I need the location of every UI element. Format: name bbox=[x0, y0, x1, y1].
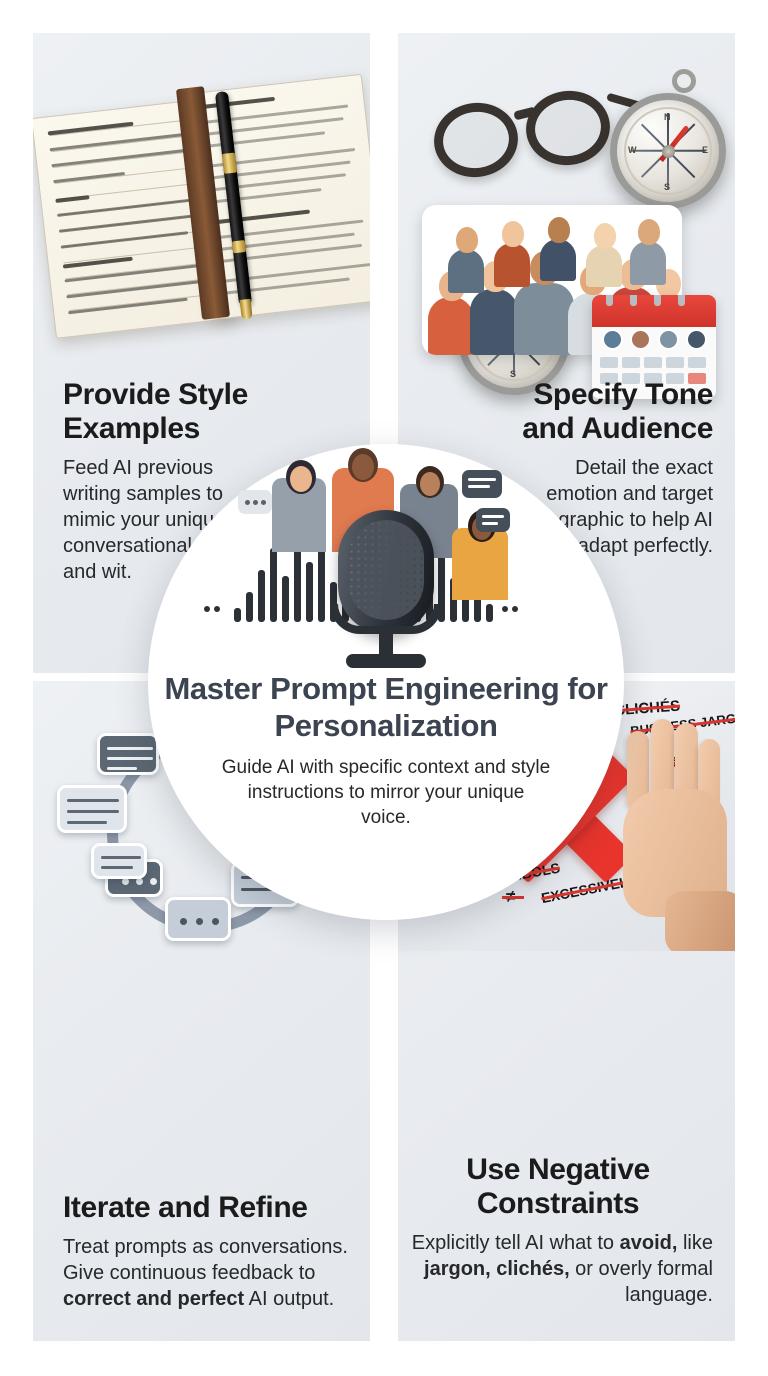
panel-heading: Specify Tone and Audience bbox=[508, 378, 713, 446]
panel-heading: Use Negative Constraints bbox=[403, 1153, 713, 1221]
panel-text-bottom-left: Iterate and Refine Treat prompts as conv… bbox=[63, 1191, 370, 1312]
glasses-right-lens bbox=[521, 86, 614, 171]
center-subtitle: Guide AI with specific context and style… bbox=[221, 755, 551, 830]
speech-bubble bbox=[462, 470, 502, 498]
glasses-left-lens bbox=[429, 98, 522, 183]
panel-heading: Provide Style Examples bbox=[63, 378, 273, 446]
center-hub: Master Prompt Engineering for Personaliz… bbox=[148, 444, 624, 920]
chat-bubble bbox=[57, 785, 127, 833]
panel-body: Treat prompts as conversations. Give con… bbox=[63, 1234, 370, 1312]
panel-body: Explicitly tell AI what to avoid, like j… bbox=[403, 1230, 713, 1308]
notebook-illustration bbox=[33, 63, 370, 363]
stop-hand-illustration bbox=[613, 715, 735, 925]
panel-text-bottom-right: Use Negative Constraints Explicitly tell… bbox=[403, 1153, 713, 1308]
chat-bubble bbox=[165, 897, 231, 941]
compass-loop bbox=[672, 69, 696, 93]
not-equal-symbol: ≠ bbox=[506, 887, 515, 907]
chat-bubble bbox=[91, 843, 147, 879]
speech-bubble bbox=[476, 508, 510, 532]
center-title: Master Prompt Engineering for Personaliz… bbox=[148, 670, 624, 744]
infographic-poster: Provide Style Examples Feed AI previous … bbox=[0, 0, 768, 1376]
compass-icon-1: N E S W bbox=[610, 93, 726, 209]
speech-bubble bbox=[238, 490, 272, 514]
tone-audience-illustration: N E S W N E S W bbox=[398, 55, 735, 405]
microphone-illustration bbox=[176, 454, 596, 674]
panel-heading: Iterate and Refine bbox=[63, 1191, 370, 1225]
